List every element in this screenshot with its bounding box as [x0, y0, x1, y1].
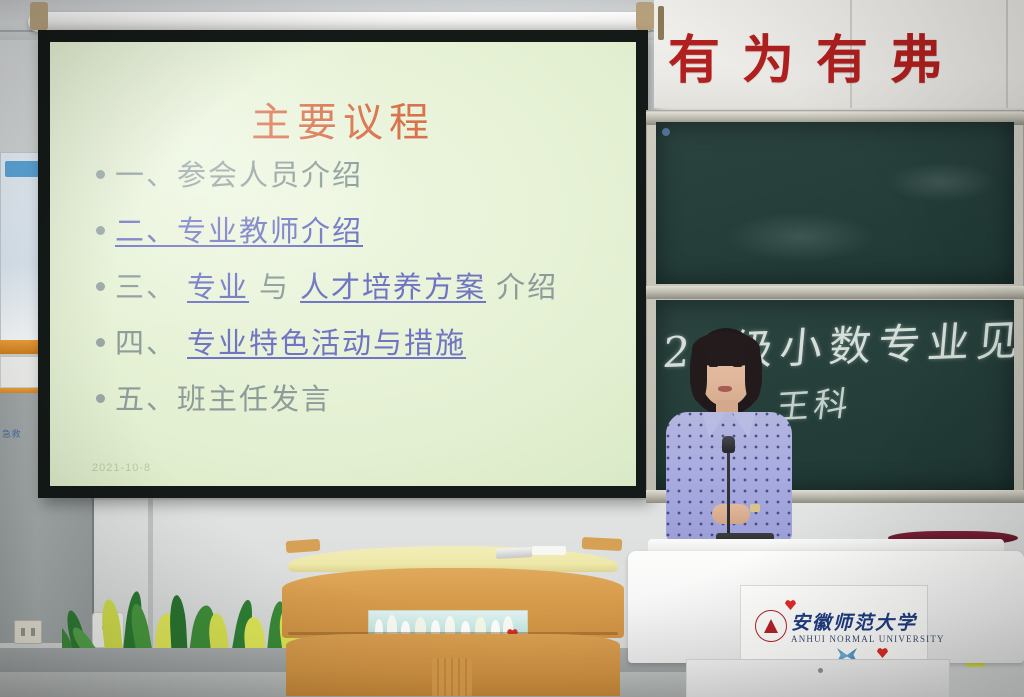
- heart-icon: [877, 648, 888, 658]
- bullet-link[interactable]: 二、专业教师介绍: [115, 208, 363, 250]
- projector-screen-frame: 主要议程 一、参会人员介绍 二、专业教师介绍 三、专业与人才培养方案介绍 四、专…: [38, 30, 648, 498]
- desk-object[interactable]: [496, 547, 532, 559]
- lectern-body: 安徽师范大学 ANHUI NORMAL UNIVERSITY: [628, 551, 1024, 663]
- chalk-smudge: [886, 162, 996, 202]
- bullet-link[interactable]: 专业: [187, 264, 249, 306]
- projector-screen-roller[interactable]: [28, 12, 654, 32]
- bullet-link[interactable]: 专业特色活动与措施: [187, 320, 466, 362]
- slide-bullet-list: 一、参会人员介绍 二、专业教师介绍 三、专业与人才培养方案介绍 四、专业特色活动…: [96, 152, 626, 432]
- hair-side-left: [690, 346, 707, 402]
- bullet-text: 介绍: [496, 264, 558, 306]
- bullet-dot-icon: [96, 338, 105, 347]
- bullet-text: 五、班主任发言: [115, 376, 332, 418]
- blackboard-magnet-icon[interactable]: [662, 128, 670, 136]
- roller-bracket-right-icon: [636, 2, 654, 30]
- bullet-text: 三、: [115, 264, 177, 306]
- bullet-dot-icon: [96, 282, 105, 291]
- bullet-dot-icon: [96, 226, 105, 235]
- list-item: 一、参会人员介绍: [96, 152, 626, 194]
- desk-paper[interactable]: [532, 546, 566, 555]
- projected-slide: 主要议程 一、参会人员介绍 二、专业教师介绍 三、专业与人才培养方案介绍 四、专…: [50, 42, 636, 486]
- chalk-smudge: [726, 212, 876, 262]
- roller-bracket-left-icon: [30, 2, 48, 30]
- bullet-dot-icon: [96, 170, 105, 179]
- banner-text: 有为有弗: [668, 18, 1024, 93]
- blackboard-rail-middle: [646, 286, 1024, 299]
- classroom-scene: 急救 主要议程 一、参会人员介绍 二、专业教师介绍 三、专业与人: [0, 0, 1024, 697]
- banner-hook-icon: [658, 6, 664, 40]
- lectern-base: [686, 659, 950, 697]
- wristwatch: [750, 504, 760, 512]
- cabinet-label: 急救: [2, 427, 21, 440]
- university-name-cn: 安徽师范大学: [791, 608, 917, 635]
- university-crest-icon: [755, 610, 787, 642]
- slide-date-stamp: 2021-10-8: [92, 462, 151, 474]
- microphone-icon[interactable]: [722, 436, 735, 453]
- desk-ledge-right: [582, 537, 623, 551]
- hair-side-right: [745, 346, 762, 402]
- blackboard-panel-upper: [656, 122, 1014, 284]
- mouth: [718, 386, 732, 392]
- bullet-text: 四、: [115, 320, 177, 362]
- list-item: 五、班主任发言: [96, 376, 626, 418]
- list-item: 三、专业与人才培养方案介绍: [96, 264, 626, 306]
- list-item: 二、专业教师介绍: [96, 208, 626, 250]
- power-outlet[interactable]: [14, 620, 42, 644]
- wooden-desk: [282, 546, 624, 697]
- speaker-person: [666, 328, 792, 563]
- bullet-text: 与: [259, 264, 290, 306]
- list-item: 四、专业特色活动与措施: [96, 320, 626, 362]
- bullet-link[interactable]: 人才培养方案: [300, 264, 486, 306]
- university-name-en: ANHUI NORMAL UNIVERSITY: [791, 634, 945, 644]
- wall-banner: 有为有弗: [654, 0, 1024, 108]
- desk-front-panel: [282, 568, 624, 638]
- bullet-dot-icon: [96, 394, 105, 403]
- desk-flute-detail: [432, 658, 472, 696]
- slide-title: 主要议程: [50, 90, 636, 148]
- lectern: ••••• 安徽师范大学 ANHUI NORMAL UNIVERSITY: [628, 539, 1024, 697]
- clasped-hands: [712, 504, 750, 524]
- desk-ledge-left: [286, 539, 321, 553]
- bullet-text: 一、参会人员介绍: [115, 152, 363, 194]
